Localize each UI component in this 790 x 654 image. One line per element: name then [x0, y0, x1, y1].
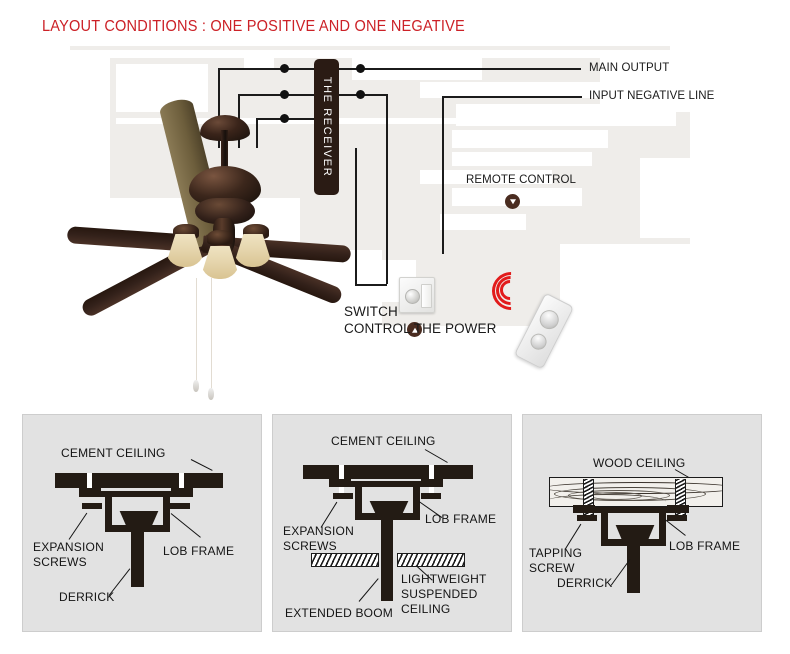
scene-bg-white [640, 158, 690, 238]
panel1-label-expansion-1: EXPANSION [33, 541, 104, 554]
panel2-screw-head [421, 493, 441, 499]
panel1-ceiling-slab [55, 473, 223, 488]
fan-pull-chain [211, 278, 212, 390]
panel3-label-tapping-2: SCREW [529, 562, 575, 575]
junction-dot [356, 64, 365, 73]
panel2-lob-frame-left [329, 479, 351, 487]
panel1-screw-head [82, 503, 102, 509]
label-main-output: MAIN OUTPUT [589, 62, 669, 74]
panel3-wood-slab [549, 477, 723, 507]
panel2-label-lightweight-1: LIGHTWEIGHT [401, 573, 487, 586]
panel-suspended-ceiling: CEMENT CEILING EXPANSION SCREWS LOB FRAM… [272, 414, 512, 632]
fan-pull-chain-end [193, 380, 199, 392]
panel2-suspended-ceiling-right [397, 553, 465, 567]
ceiling-fan-image [55, 98, 405, 398]
remote-dial-lower[interactable] [528, 331, 550, 353]
panel2-label-expansion-1: EXPANSION [283, 525, 354, 538]
panel1-label-lob-frame: LOB FRAME [163, 545, 234, 558]
panel1-label-expansion-2: SCREWS [33, 556, 87, 569]
panel2-screw-head [333, 493, 353, 499]
panel3-label-derrick: DERRICK [557, 577, 612, 590]
label-input-negative-line: INPUT NEGATIVE LINE [589, 90, 714, 102]
panel3-derrick-rod [627, 543, 640, 593]
panel3-label-wood-ceiling: WOOD CEILING [593, 457, 685, 470]
wall-switch[interactable] [399, 277, 435, 313]
panel3-label-lob-frame: LOB FRAME [669, 540, 740, 553]
panel3-leader-lobframe [665, 519, 686, 536]
fan-pull-chain [196, 278, 197, 382]
panel2-extended-boom-rod [381, 517, 393, 601]
scene-bg-white [440, 214, 526, 230]
label-remote-control: REMOTE CONTROL [466, 174, 576, 186]
panel2-label-lob-frame: LOB FRAME [425, 513, 496, 526]
panel1-lob-frame-right [171, 488, 193, 497]
panel2-leader-boom [359, 578, 379, 602]
panel1-label-cement-ceiling: CEMENT CEILING [61, 447, 166, 460]
fan-downrod [221, 130, 228, 170]
panel1-leader-ceiling [191, 459, 213, 471]
panel1-leader-expansion [69, 513, 88, 540]
panel2-label-lightweight-2: SUSPENDED [401, 588, 477, 601]
panel2-label-extended-boom: EXTENDED BOOM [285, 607, 393, 620]
remote-dial-upper[interactable] [536, 307, 562, 333]
scene-bg-white [452, 152, 592, 166]
panel3-lob-frame-left [573, 505, 595, 513]
wire-input-negative [442, 96, 582, 98]
panel3-screw-head [577, 515, 597, 521]
panel1-screw-head [170, 503, 190, 509]
fan-pull-chain-end [208, 388, 214, 400]
panel3-label-tapping-1: TAPPING [529, 547, 582, 560]
scene-bg-white [244, 58, 274, 68]
scene-bg-panel [70, 46, 670, 50]
remote-control-image [496, 278, 592, 370]
panel1-derrick-rod [131, 529, 144, 587]
panel1-leader-lobframe [171, 513, 201, 538]
wire-mid-left [238, 94, 318, 96]
wiring-diagram-scene: THE RECEIVER MAIN OUTPUT INPUT NEGATIVE … [0, 38, 790, 368]
panel1-label-derrick: DERRICK [59, 591, 114, 604]
panel2-leader-ceiling [425, 449, 448, 463]
panel1-lob-frame-left [79, 488, 101, 497]
wire-top-left [218, 68, 318, 70]
remote-control-marker-icon [505, 194, 520, 209]
panel-cement-ceiling: CEMENT CEILING EXPANSION SCREWS LOB FRAM… [22, 414, 262, 632]
panel2-lob-frame-right [421, 479, 443, 487]
panel3-screw-head [667, 515, 687, 521]
scene-bg-white [452, 130, 608, 148]
panel2-label-lightweight-3: CEILING [401, 603, 450, 616]
panel2-suspended-ceiling-left [311, 553, 379, 567]
wire-main-output [339, 68, 581, 70]
panel2-ceiling-slab [303, 465, 473, 479]
switch-knob[interactable] [405, 289, 420, 304]
panel-wood-ceiling: WOOD CEILING TAPPING SCREW LOB FRAME DER… [522, 414, 762, 632]
scene-bg-white [600, 52, 690, 112]
fan-shade-cap [207, 230, 233, 245]
panel2-label-cement-ceiling: CEMENT CEILING [331, 435, 436, 448]
switch-rocker[interactable] [421, 284, 432, 308]
panel3-lob-frame-right [667, 505, 689, 513]
wire-input-negative-drop [442, 96, 444, 254]
junction-dot [280, 64, 289, 73]
page-title: LAYOUT CONDITIONS : ONE POSITIVE AND ONE… [42, 18, 465, 36]
panel2-label-expansion-2: SCREWS [283, 540, 337, 553]
